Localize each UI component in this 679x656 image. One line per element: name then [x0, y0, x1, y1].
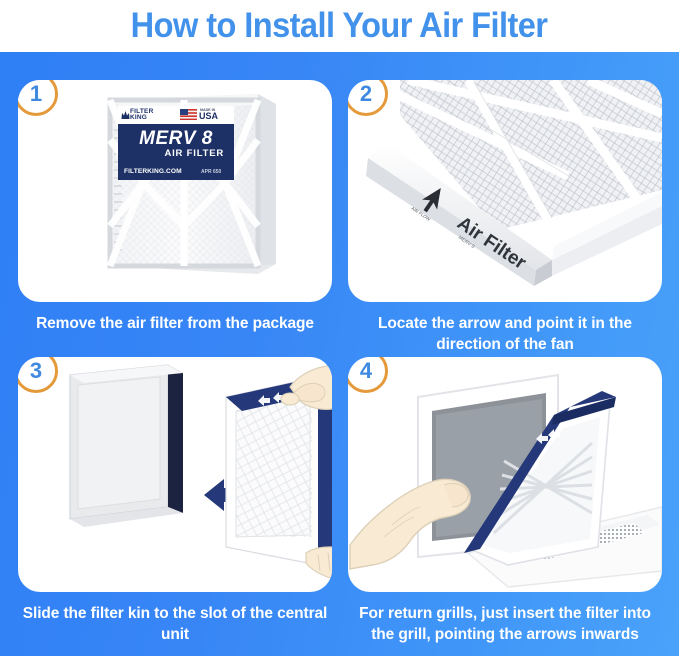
step-3-illustration	[18, 357, 332, 592]
step-caption-2: Locate the arrow and point it in the dir…	[348, 313, 662, 355]
step-2-card: AIR FLOW Air Filter MERV 8 2	[348, 80, 662, 302]
website-label: FILTERKING.COM	[124, 168, 182, 175]
steps-grid: FILTER KING MADE IN USA	[0, 52, 679, 656]
step-3: 3 Slide the filter kin to the slot of th…	[18, 357, 332, 645]
product-type: AIR FILTER	[128, 149, 224, 159]
step-3-card: 3	[18, 357, 332, 592]
step-2: AIR FLOW Air Filter MERV 8 2 Locate the …	[348, 80, 662, 355]
central-unit-panel	[70, 365, 183, 527]
step-4-illustration	[348, 357, 662, 592]
header-band: How to Install Your Air Filter	[0, 0, 679, 52]
step-4: 4 For return grills, just insert the fil…	[348, 357, 662, 645]
crown-icon	[121, 109, 130, 121]
page-title: How to Install Your Air Filter	[131, 6, 548, 46]
steps-background: FILTER KING MADE IN USA	[0, 52, 679, 656]
hand-lower	[306, 547, 332, 579]
usa-caption: USA	[199, 112, 218, 121]
brand-name-line2: KING	[130, 115, 147, 121]
step-1-card: FILTER KING MADE IN USA	[18, 80, 332, 302]
step-4-card: 4	[348, 357, 662, 592]
usa-flag-icon	[180, 109, 197, 120]
step-1: FILTER KING MADE IN USA	[18, 80, 332, 334]
step-caption-4: For return grills, just insert the filte…	[348, 603, 662, 645]
step-caption-1: Remove the air filter from the package	[18, 313, 332, 334]
infographic-page: How to Install Your Air Filter	[0, 0, 679, 656]
step-2-illustration: AIR FLOW Air Filter MERV 8	[348, 80, 662, 302]
step-caption-3: Slide the filter kin to the slot of the …	[18, 603, 332, 645]
product-label-text: FILTER KING MADE IN USA	[18, 80, 332, 302]
apr-code: APR 650	[201, 169, 221, 175]
merv-rating: MERV 8	[128, 129, 224, 149]
